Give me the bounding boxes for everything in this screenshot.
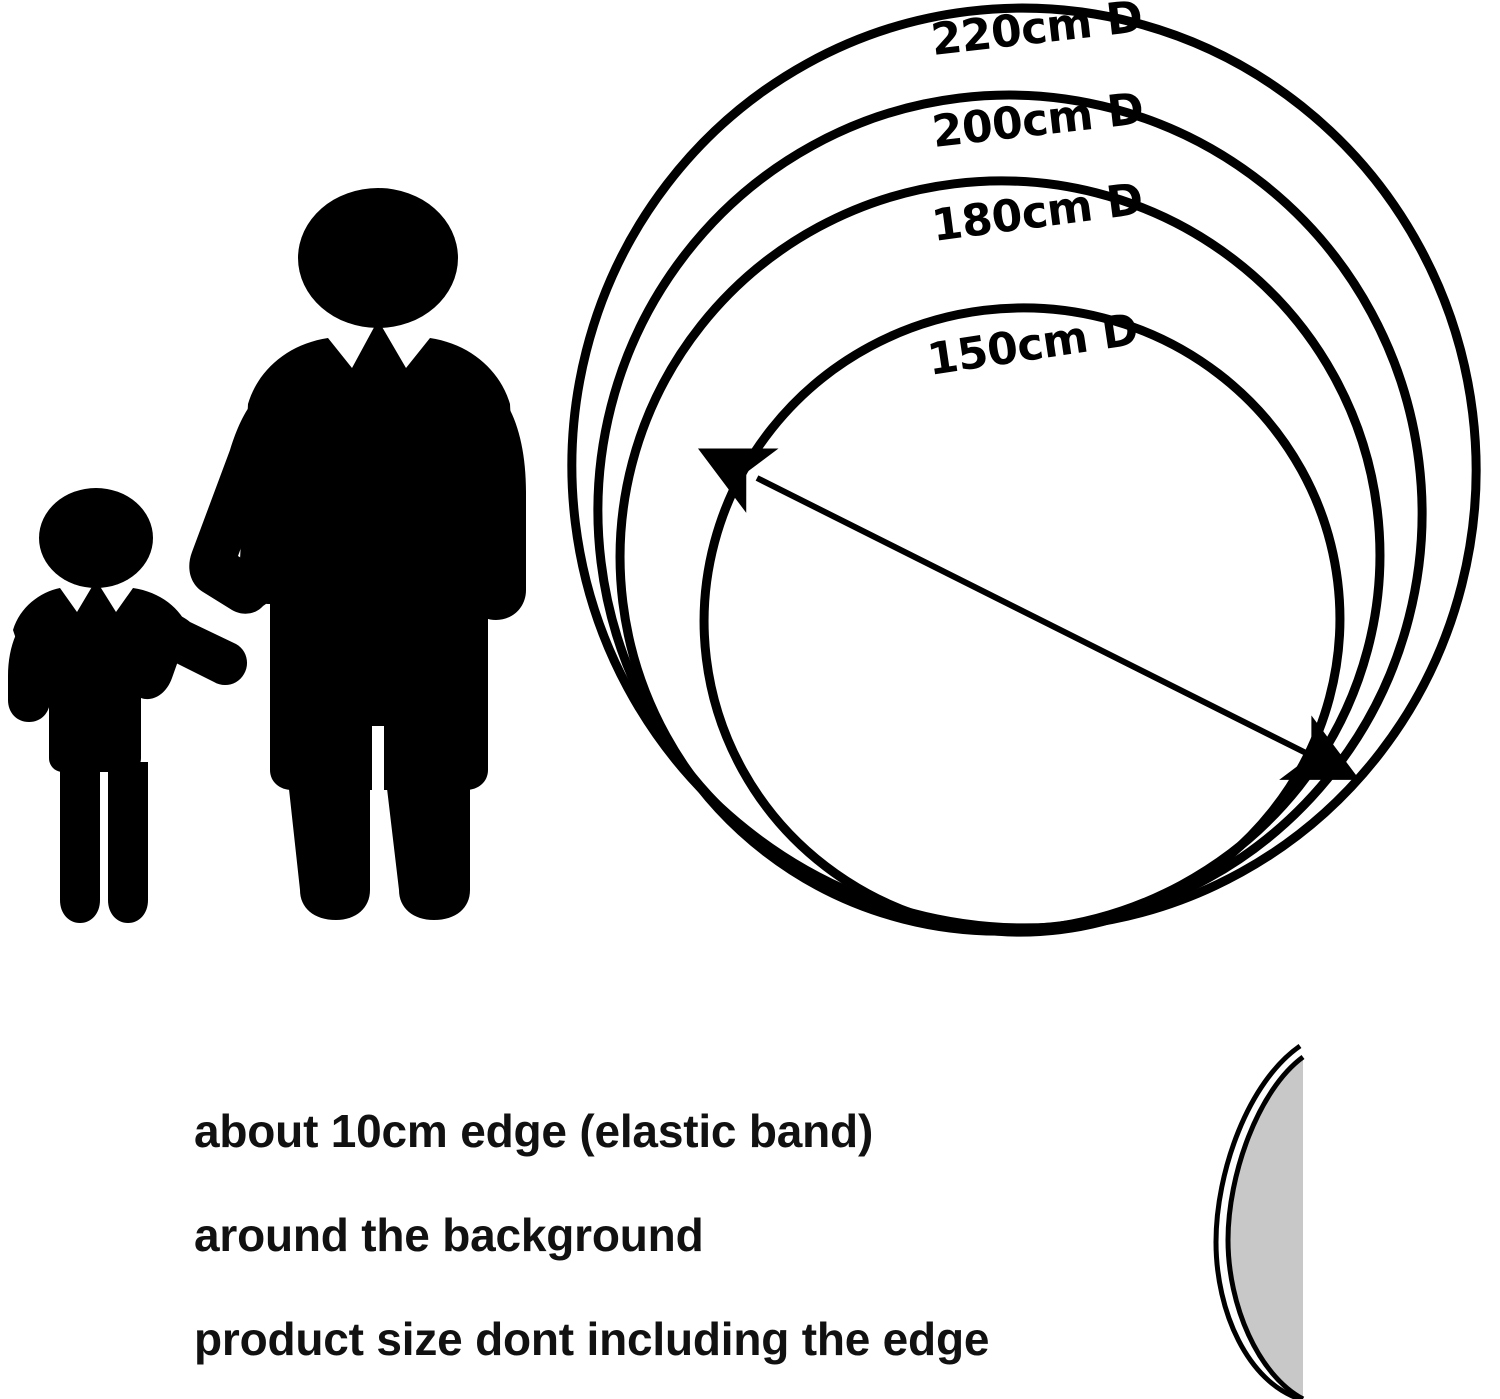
child-head-icon	[39, 488, 153, 588]
adult-head-icon	[298, 188, 458, 328]
size-chart-illustration: 220cm D 200cm D 180cm D 150cm D about 10…	[0, 0, 1500, 1399]
adult-leg-gap	[372, 726, 384, 926]
child-left-leg	[60, 762, 100, 923]
size-chart-canvas: 220cm D 200cm D 180cm D 150cm D about 10…	[0, 0, 1500, 1399]
note-line-3: product size dont including the edge	[194, 1313, 989, 1365]
child-right-leg	[108, 762, 148, 923]
note-line-2: around the background	[194, 1209, 703, 1261]
note-line-1: about 10cm edge (elastic band)	[194, 1105, 873, 1157]
